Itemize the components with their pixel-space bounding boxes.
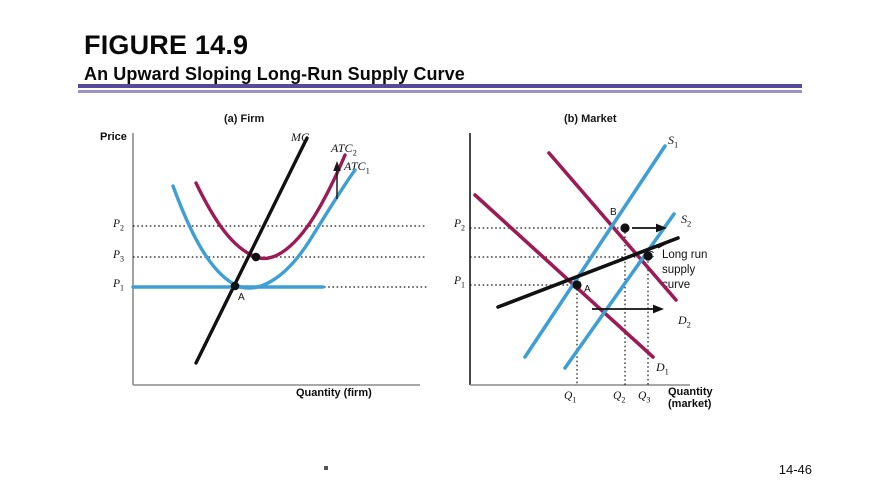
market-chart-graphic	[440, 0, 880, 420]
firm-panel: (a) Firm Price Quantity (firm) P2 P3 P1 …	[0, 0, 440, 420]
slide-canvas: FIGURE 14.9 An Upward Sloping Long-Run S…	[0, 0, 880, 495]
firm-point-a	[231, 282, 240, 291]
market-point-c	[643, 251, 652, 260]
market-demand-shift-arrow-head	[653, 305, 664, 314]
market-panel: (b) Market Quantity (market) P2 P1 Q1 Q2…	[440, 0, 880, 420]
firm-curve-atc2	[196, 155, 345, 258]
firm-chart-graphic	[0, 0, 440, 420]
page-number: 14-46	[779, 462, 812, 477]
market-curve-d1	[475, 195, 653, 357]
firm-point-mc-atc2	[252, 253, 261, 262]
footer-mark	[324, 466, 328, 470]
firm-curve-mc	[196, 138, 307, 363]
market-point-b	[620, 223, 629, 232]
market-point-a	[572, 280, 581, 289]
